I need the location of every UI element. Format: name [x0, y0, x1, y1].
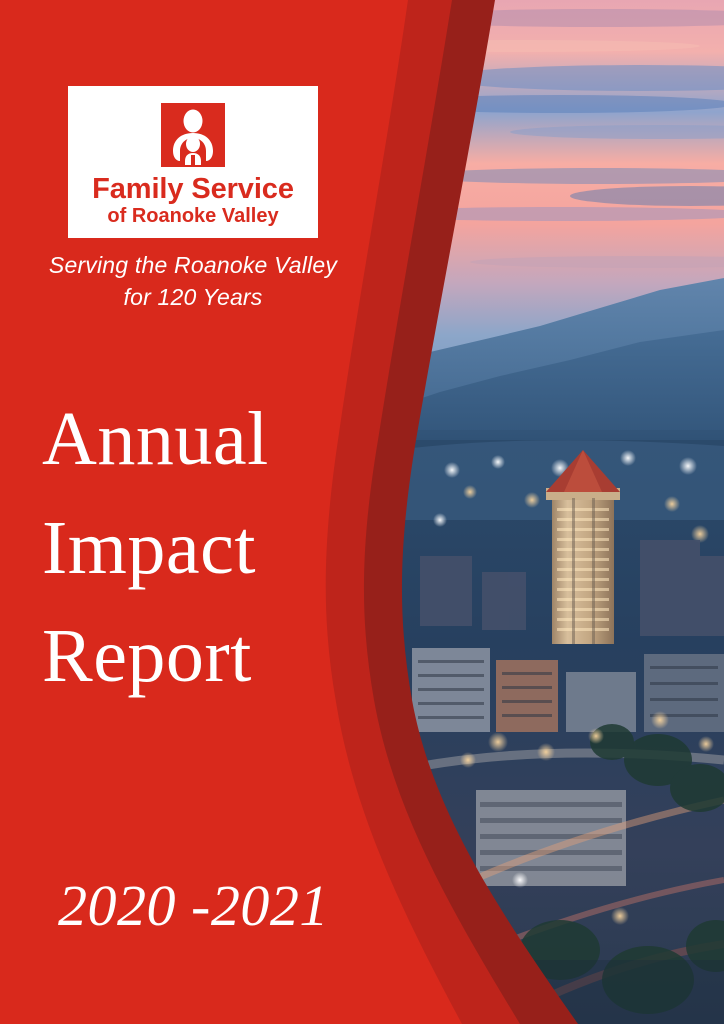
- title-line-2: Impact: [42, 494, 382, 603]
- family-parent-and-child-icon: [161, 103, 225, 167]
- logo-subline: of Roanoke Valley: [107, 205, 278, 227]
- page-title: Annual Impact Report: [42, 385, 382, 711]
- tagline-line-2: for 120 Years: [0, 282, 386, 314]
- report-cover-page: Family Service of Roanoke Valley Serving…: [0, 0, 724, 1024]
- logo-wordmark: Family Service: [92, 174, 294, 204]
- title-line-3: Report: [42, 602, 382, 711]
- cover-content: Family Service of Roanoke Valley Serving…: [0, 0, 724, 1024]
- tagline-line-1: Serving the Roanoke Valley: [0, 250, 386, 282]
- report-year-range: 2020 -2021: [58, 872, 329, 939]
- title-line-1: Annual: [42, 385, 382, 494]
- tagline: Serving the Roanoke Valley for 120 Years: [0, 250, 386, 313]
- organization-logo: Family Service of Roanoke Valley: [68, 86, 318, 238]
